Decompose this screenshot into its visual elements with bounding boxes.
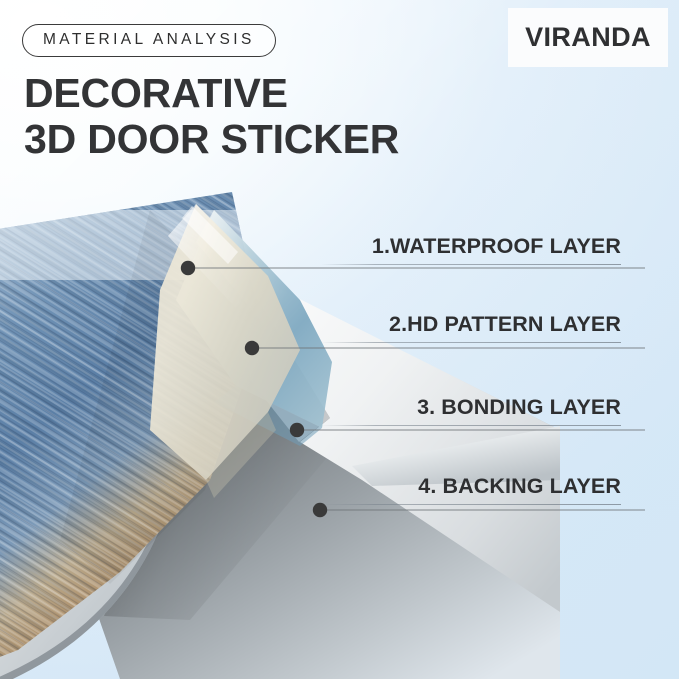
callout-label-1-underline [321,264,621,265]
callout-label-1: 1.WATERPROOF LAYER [321,236,621,265]
callout-label-3-text: 3. BONDING LAYER [321,397,621,419]
callout-label-1-text: 1.WATERPROOF LAYER [321,236,621,258]
callout-label-2: 2.HD PATTERN LAYER [321,314,621,343]
brand-logo: VIRANDA [508,8,668,67]
callout-label-4-underline [321,504,621,505]
page-title-line-1: DECORATIVE [24,70,288,116]
callout-label-4-text: 4. BACKING LAYER [321,476,621,498]
callout-label-4: 4. BACKING LAYER [321,476,621,505]
callout-label-2-underline [321,342,621,343]
material-analysis-badge: MATERIAL ANALYSIS [22,24,276,57]
page-title-line-2: 3D DOOR STICKER [24,116,494,162]
page-title: DECORATIVE 3D DOOR STICKER [24,70,494,163]
callout-label-2-text: 2.HD PATTERN LAYER [321,314,621,336]
brand-logo-text: VIRANDA [525,22,651,53]
product-infographic: MATERIAL ANALYSIS DECORATIVE 3D DOOR STI… [0,0,679,679]
callout-label-3: 3. BONDING LAYER [321,397,621,426]
callout-label-3-underline [321,425,621,426]
